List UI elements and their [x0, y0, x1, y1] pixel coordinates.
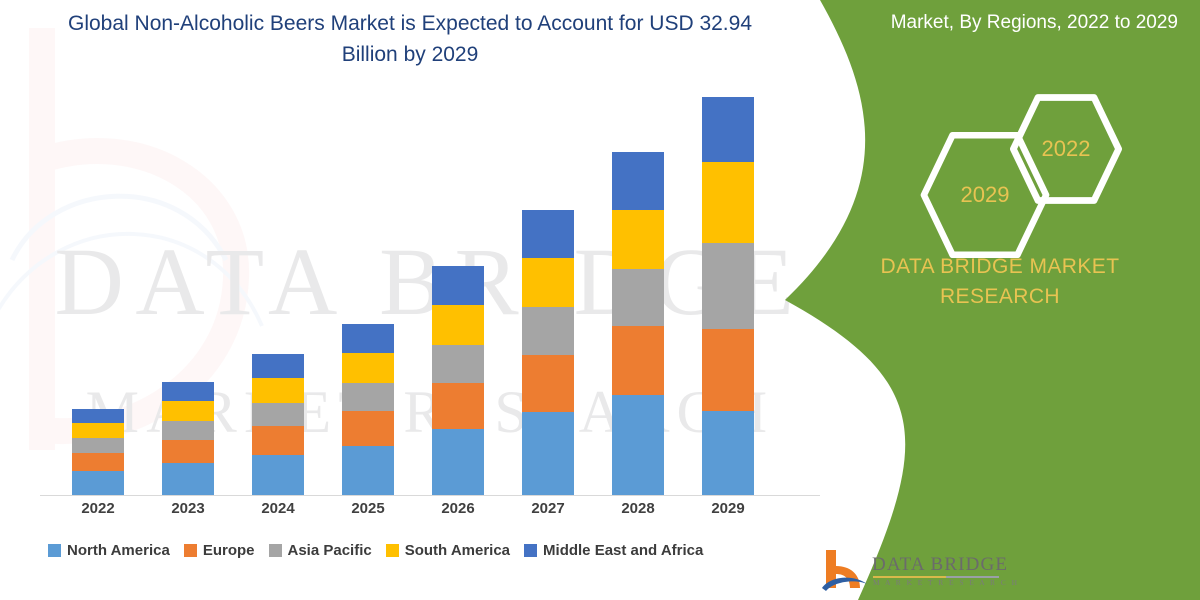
bar-segment[interactable]	[252, 378, 304, 402]
bar-segment[interactable]	[72, 438, 124, 453]
bar-segment[interactable]	[162, 421, 214, 440]
bar-segment[interactable]	[702, 243, 754, 329]
logo-tagline: M A R K E T R E S E A R C H	[873, 578, 1019, 587]
bar-2022[interactable]	[72, 409, 124, 496]
bar-segment[interactable]	[252, 354, 304, 378]
hexagon-badge-2022-label: 2022	[1042, 136, 1091, 162]
bar-segment[interactable]	[252, 403, 304, 427]
bar-2027[interactable]	[522, 210, 574, 496]
bar-segment[interactable]	[162, 382, 214, 401]
bar-segment[interactable]	[522, 210, 574, 258]
bar-2029[interactable]	[702, 97, 754, 496]
legend-item-north-america[interactable]: North America	[48, 542, 170, 559]
legend-label: South America	[405, 542, 510, 559]
logo-wordmark: DATA BRIDGE	[872, 554, 1008, 576]
hexagon-badge-2029-label: 2029	[961, 182, 1010, 208]
stacked-bar-chart	[40, 96, 820, 496]
legend-swatch-icon	[524, 544, 537, 557]
bar-segment[interactable]	[522, 412, 574, 496]
bar-segment[interactable]	[612, 326, 664, 395]
bar-2024[interactable]	[252, 354, 304, 496]
legend-label: Middle East and Africa	[543, 542, 703, 559]
x-axis-line	[40, 495, 820, 496]
company-logo: DATA BRIDGE M A R K E T R E S E A R C H	[820, 548, 1040, 596]
infographic-canvas: DATA BRIDGE MARKET RESEARCH Global Non-A…	[0, 0, 1200, 600]
bar-segment[interactable]	[162, 440, 214, 463]
chart-legend: North AmericaEuropeAsia PacificSouth Ame…	[48, 538, 828, 562]
bar-segment[interactable]	[72, 409, 124, 424]
panel-content: Market, By Regions, 2022 to 2029 2029 20…	[780, 0, 1200, 600]
legend-label: Asia Pacific	[288, 542, 372, 559]
bridge-mark-icon	[820, 548, 870, 594]
bar-segment[interactable]	[432, 305, 484, 344]
legend-item-middle-east-and-africa[interactable]: Middle East and Africa	[524, 542, 703, 559]
legend-item-asia-pacific[interactable]: Asia Pacific	[269, 542, 372, 559]
bar-segment[interactable]	[162, 401, 214, 420]
bar-segment[interactable]	[612, 210, 664, 269]
x-tick-2026: 2026	[432, 500, 484, 517]
bar-segment[interactable]	[522, 355, 574, 413]
bar-segment[interactable]	[72, 423, 124, 438]
x-tick-2027: 2027	[522, 500, 574, 517]
x-tick-2028: 2028	[612, 500, 664, 517]
bar-segment[interactable]	[432, 266, 484, 305]
legend-swatch-icon	[48, 544, 61, 557]
brand-name: DATA BRIDGE MARKET RESEARCH	[830, 252, 1170, 312]
panel-title: Market, By Regions, 2022 to 2029	[848, 8, 1178, 37]
bar-segment[interactable]	[342, 411, 394, 446]
legend-swatch-icon	[184, 544, 197, 557]
bar-segment[interactable]	[162, 463, 214, 496]
legend-label: North America	[67, 542, 170, 559]
bar-segment[interactable]	[702, 97, 754, 162]
bar-segment[interactable]	[702, 162, 754, 243]
bar-segment[interactable]	[252, 426, 304, 454]
legend-item-south-america[interactable]: South America	[386, 542, 510, 559]
bar-segment[interactable]	[612, 269, 664, 327]
bar-2028[interactable]	[612, 152, 664, 496]
bar-2025[interactable]	[342, 324, 394, 496]
bar-segment[interactable]	[522, 258, 574, 307]
bar-segment[interactable]	[72, 471, 124, 496]
hexagon-badge-2022: 2022	[1010, 93, 1122, 205]
x-tick-2024: 2024	[252, 500, 304, 517]
bar-segment[interactable]	[432, 383, 484, 429]
bar-segment[interactable]	[702, 329, 754, 411]
chart-plot-area	[40, 96, 820, 496]
bar-segment[interactable]	[432, 429, 484, 496]
x-axis-tick-labels: 20222023202420252026202720282029	[40, 500, 820, 526]
bar-segment[interactable]	[612, 395, 664, 496]
legend-swatch-icon	[386, 544, 399, 557]
x-tick-2023: 2023	[162, 500, 214, 517]
x-tick-2025: 2025	[342, 500, 394, 517]
bar-segment[interactable]	[72, 453, 124, 471]
legend-item-europe[interactable]: Europe	[184, 542, 255, 559]
bar-2023[interactable]	[162, 382, 214, 496]
legend-label: Europe	[203, 542, 255, 559]
bar-segment[interactable]	[342, 353, 394, 383]
bar-segment[interactable]	[432, 345, 484, 383]
bar-segment[interactable]	[612, 152, 664, 210]
bar-segment[interactable]	[342, 324, 394, 353]
bar-segment[interactable]	[252, 455, 304, 496]
bar-segment[interactable]	[342, 446, 394, 496]
bar-segment[interactable]	[702, 411, 754, 496]
bar-segment[interactable]	[522, 307, 574, 355]
bar-2026[interactable]	[432, 266, 484, 496]
page-title: Global Non-Alcoholic Beers Market is Exp…	[60, 8, 760, 70]
bar-segment[interactable]	[342, 383, 394, 411]
x-tick-2022: 2022	[72, 500, 124, 517]
legend-swatch-icon	[269, 544, 282, 557]
x-tick-2029: 2029	[702, 500, 754, 517]
